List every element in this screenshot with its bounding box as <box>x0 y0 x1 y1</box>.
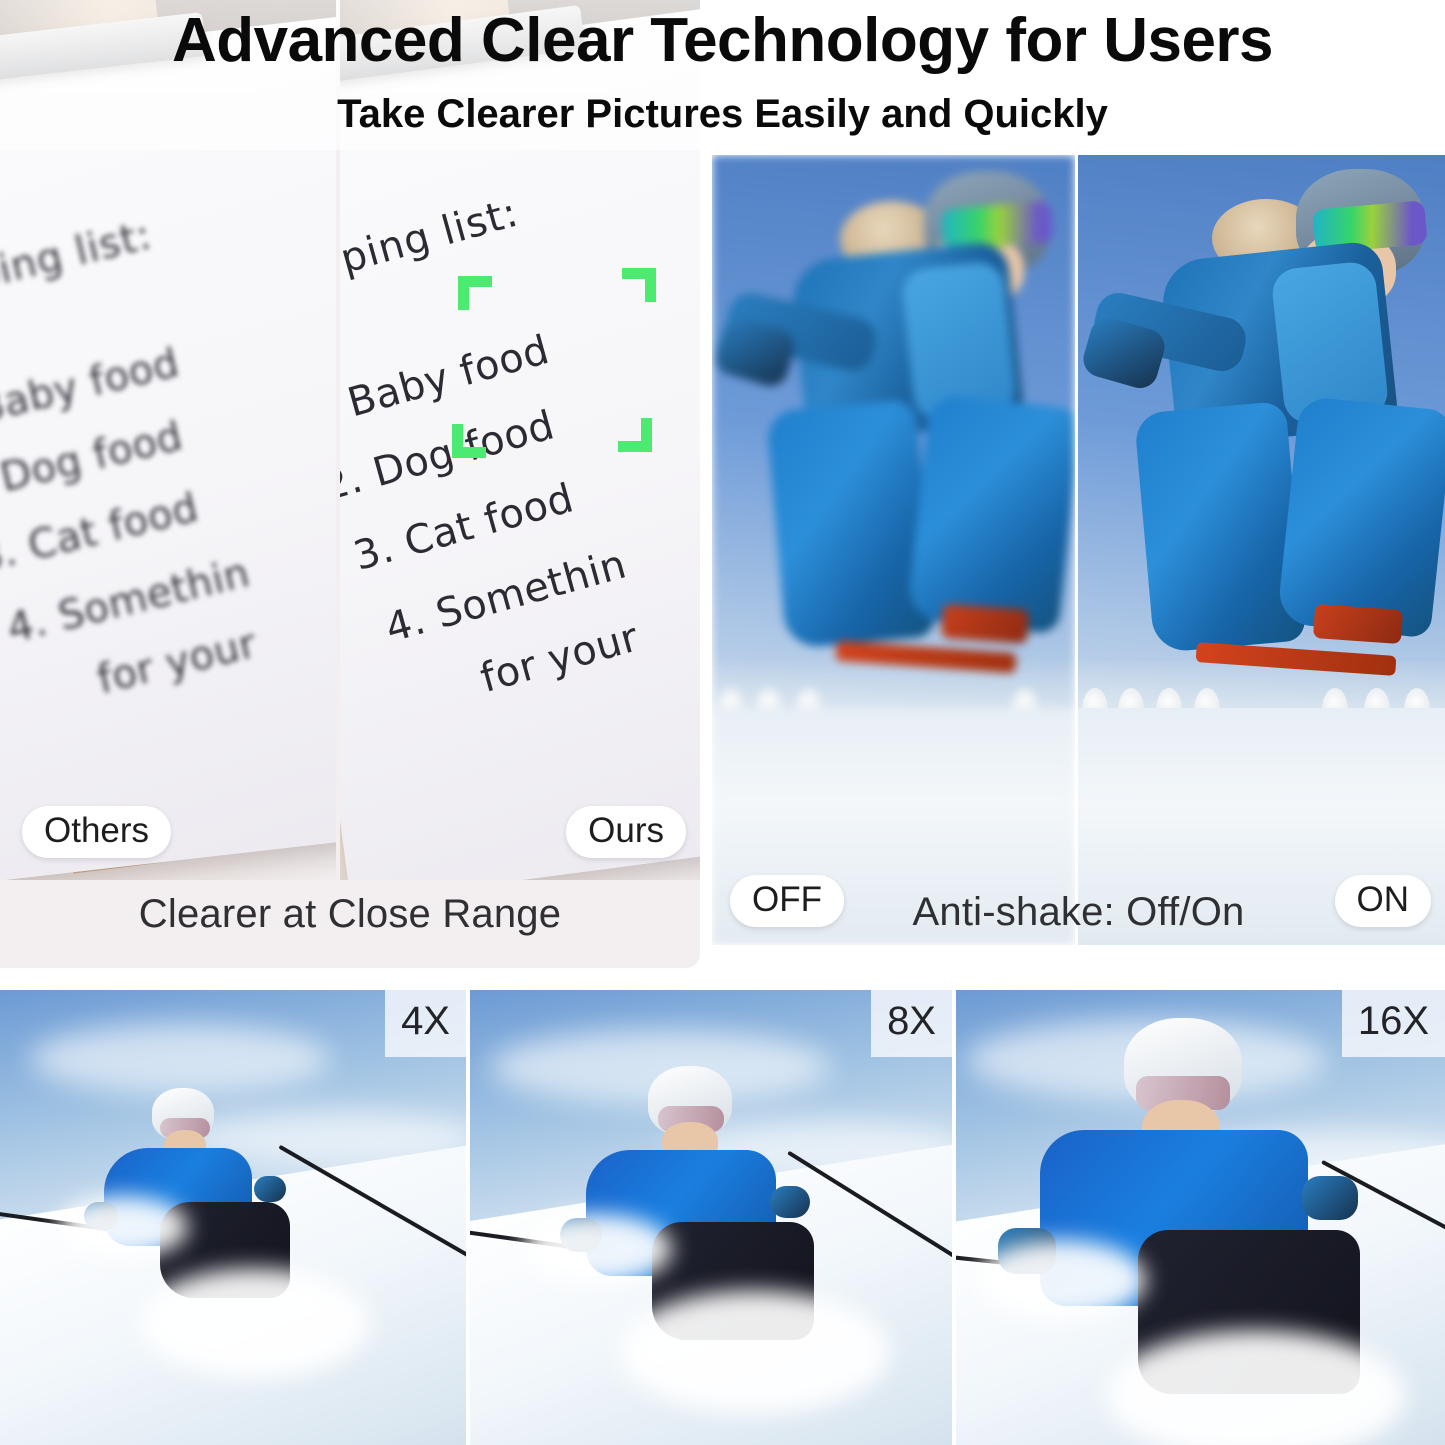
ski-pants-right <box>907 394 1075 635</box>
af-bracket-top-left-icon <box>458 276 492 310</box>
ski-photo-blurry <box>712 155 1075 945</box>
close-range-pane-others: hopping list: 1. Baby food 2. Dog food 3… <box>0 0 336 880</box>
anti-shake-caption: Anti-shake: Off/On <box>712 890 1445 935</box>
af-bracket-bottom-left-icon <box>452 424 486 458</box>
note-title-ours: hopping list: <box>340 190 523 304</box>
close-range-caption: Clearer at Close Range <box>0 892 700 937</box>
zoom-photo-16x <box>956 990 1445 1445</box>
zoom-pane-16x: 16X <box>956 990 1445 1445</box>
badge-others: Others <box>22 806 171 858</box>
zoom-pane-4x: 4X <box>0 990 466 1445</box>
top-section: hopping list: 1. Baby food 2. Dog food 3… <box>0 0 1445 975</box>
note-item-others-5: for your <box>93 621 261 703</box>
zoom-badge-8x: 8X <box>871 990 952 1057</box>
note-title-others: hopping list: <box>0 212 156 318</box>
ski-glove-right <box>770 1186 810 1218</box>
close-range-comparison: hopping list: 1. Baby food 2. Dog food 3… <box>0 0 700 968</box>
zoom-badge-4x: 4X <box>385 990 466 1057</box>
anti-shake-pane-off: OFF <box>712 155 1075 945</box>
ski-pants-left <box>766 399 936 649</box>
ski-photo-sharp <box>1078 155 1445 945</box>
ski-boot-right <box>941 604 1029 644</box>
zoom-badge-16x: 16X <box>1342 990 1445 1057</box>
note-sheet-others: hopping list: 1. Baby food 2. Dog food 3… <box>0 16 336 880</box>
ski-pants-right <box>1277 396 1445 639</box>
zoom-photo-4x <box>0 990 466 1445</box>
ski-boot-right <box>1313 604 1403 644</box>
anti-shake-pane-on: ON <box>1078 155 1445 945</box>
zoom-pane-8x: 8X <box>470 990 952 1445</box>
ski-pants-left <box>1134 401 1306 653</box>
ski-glove-right <box>1302 1176 1358 1220</box>
product-feature-graphic: hopping list: 1. Baby food 2. Dog food 3… <box>0 0 1445 1445</box>
af-bracket-top-right-icon <box>622 268 656 302</box>
anti-shake-comparison: OFF <box>712 78 1445 968</box>
close-range-pane-ours: hopping list: 1. Baby food 2. Dog food 3… <box>340 0 700 880</box>
badge-ours: Ours <box>566 806 686 858</box>
ski-glove-right <box>254 1176 286 1202</box>
af-bracket-bottom-right-icon <box>618 418 652 452</box>
zoom-photo-8x <box>470 990 952 1445</box>
zoom-level-row: 4X 8X <box>0 990 1445 1445</box>
note-item-ours-5: for your <box>476 614 644 702</box>
